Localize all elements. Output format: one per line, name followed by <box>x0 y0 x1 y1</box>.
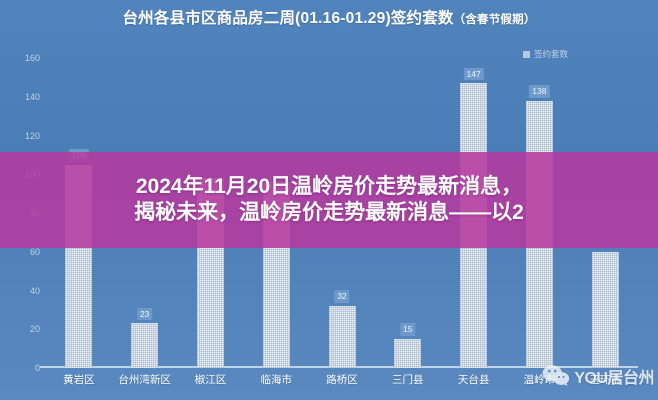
bar <box>394 339 421 368</box>
bar <box>131 323 158 368</box>
bar-value-label: 15 <box>400 323 415 336</box>
y-axis-tick-160: 160 <box>25 53 40 63</box>
chart-title-subtitle: （含春节假期） <box>454 14 536 26</box>
headline-line-2: 揭秘未来，温岭房价走势最新消息——以2 <box>134 200 524 226</box>
x-axis-label: 椒江区 <box>178 372 244 387</box>
chart-title-main: 台州各县市区商品房二周(01.16-01.29)签约套数 <box>122 10 453 27</box>
watermark: YOU居台州 <box>541 363 654 388</box>
y-axis-tick-20: 20 <box>30 324 40 334</box>
wechat-icon <box>541 363 571 388</box>
y-axis-tick-60: 60 <box>30 247 40 257</box>
bar-value-label: 138 <box>529 85 549 98</box>
x-axis-label: 路桥区 <box>309 372 375 387</box>
y-axis-tick-0: 0 <box>35 363 40 373</box>
chart-title: 台州各县市区商品房二周(01.16-01.29)签约套数（含春节假期） <box>0 6 658 28</box>
headline-overlay: 2024年11月20日温岭房价走势最新消息， 揭秘未来，温岭房价走势最新消息——… <box>0 152 658 248</box>
bar-value-label: 32 <box>334 290 349 303</box>
x-axis-label: 三门县 <box>375 372 441 387</box>
y-axis-tick-40: 40 <box>30 286 40 296</box>
legend-swatch-icon <box>523 51 530 58</box>
bar <box>592 252 619 368</box>
headline-line-1: 2024年11月20日温岭房价走势最新消息， <box>136 174 522 200</box>
watermark-text: YOU居台州 <box>574 364 654 388</box>
y-axis-tick-120: 120 <box>25 131 40 141</box>
x-axis-label: 临海市 <box>243 372 309 387</box>
chart-screenshot: 台州各县市区商品房二周(01.16-01.29)签约套数（含春节假期） 签约套数… <box>0 0 658 400</box>
bar-value-label: 147 <box>463 68 483 81</box>
y-axis-tick-140: 140 <box>25 92 40 102</box>
x-axis-label: 天台县 <box>441 372 507 387</box>
x-axis-label: 台州湾新区 <box>112 372 178 387</box>
bar-value-label: 23 <box>137 308 152 321</box>
x-axis-label: 黄岩区 <box>46 372 112 387</box>
bar <box>329 306 356 368</box>
